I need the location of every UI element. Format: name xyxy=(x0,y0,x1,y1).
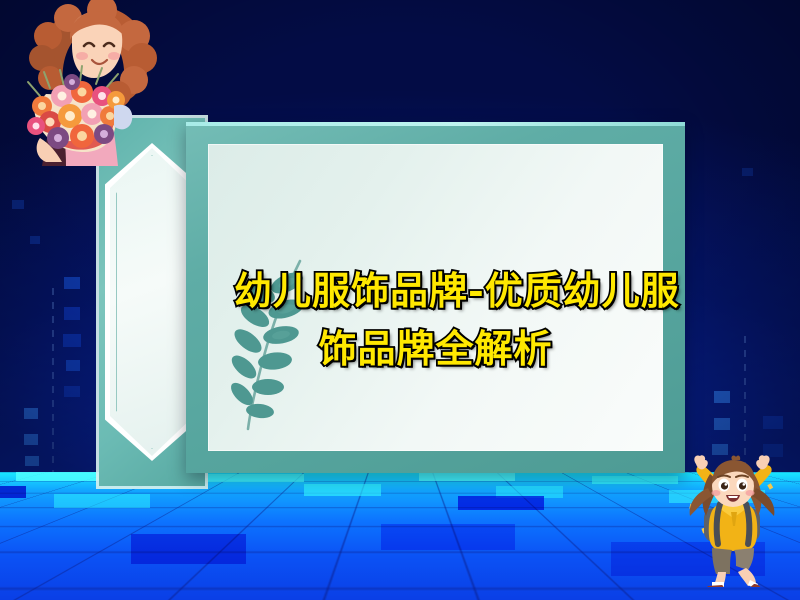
floor-tile xyxy=(592,476,678,484)
girl-with-bouquet-illustration xyxy=(6,0,166,166)
jumping-girl-illustration xyxy=(672,452,792,587)
floor-tile xyxy=(381,524,515,550)
floor-tile xyxy=(131,534,246,564)
floor-tile xyxy=(304,484,381,496)
floor-tile xyxy=(419,472,515,481)
floor-tile xyxy=(0,486,26,498)
title-frame-inner: 幼儿服饰品牌-优质幼儿服 饰品牌全解析 xyxy=(208,144,663,451)
slide-title-line-2: 饰品牌全解析 xyxy=(234,320,637,378)
floor-tile xyxy=(189,474,304,482)
floor-tile xyxy=(54,494,150,508)
hexagon-plate xyxy=(110,148,194,456)
slide-title-line-1: 幼儿服饰品牌-优质幼儿服 xyxy=(234,262,637,320)
slide-canvas: 幼儿服饰品牌-优质幼儿服 饰品牌全解析 xyxy=(0,0,800,600)
floor-tile xyxy=(458,496,544,510)
slide-title: 幼儿服饰品牌-优质幼儿服 饰品牌全解析 xyxy=(208,262,663,378)
title-frame: 幼儿服饰品牌-优质幼儿服 饰品牌全解析 xyxy=(186,122,685,473)
floor-tile xyxy=(16,472,102,481)
